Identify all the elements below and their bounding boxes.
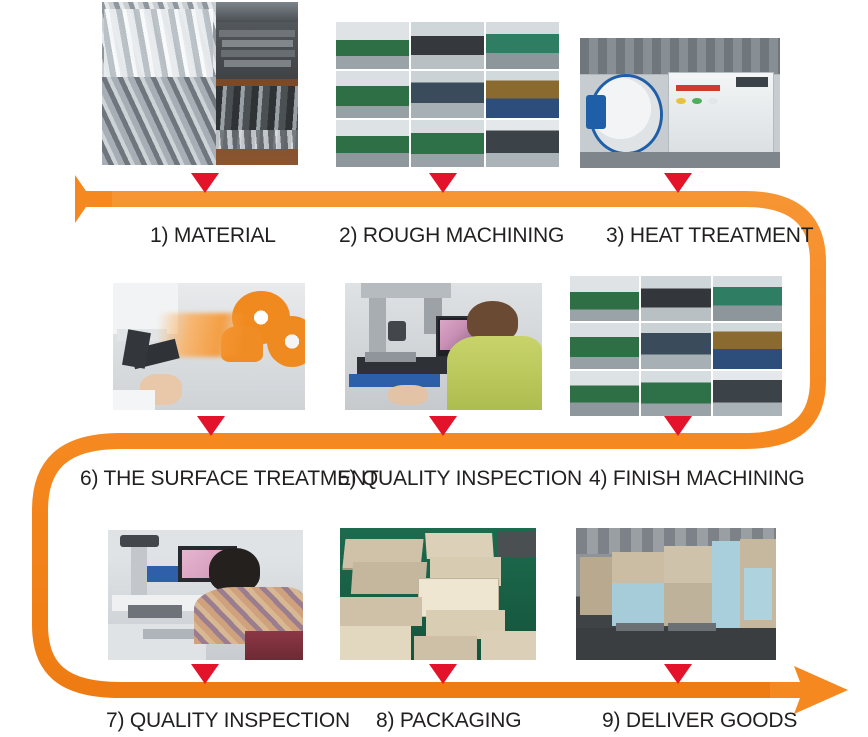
- process-flow-diagram: 1) MATERIAL 2) ROUGH MACHINING 3) HEAT T…: [0, 0, 868, 737]
- red-down-chevron: [663, 663, 693, 685]
- step-label-5: 5) QUALITY INSPECTION: [338, 468, 582, 489]
- flow-start-arrowhead: [75, 175, 112, 223]
- step-label-8: 8) PACKAGING: [376, 710, 521, 731]
- rough-machining-photo: [336, 22, 559, 167]
- flow-end-arrowhead: [770, 666, 848, 714]
- red-down-chevron: [663, 415, 693, 437]
- heat-treatment-photo: [580, 38, 780, 168]
- deliver-goods-photo: [576, 528, 776, 660]
- red-down-chevron: [428, 415, 458, 437]
- step-label-6: 6) THE SURFACE TREATMENT: [80, 468, 379, 489]
- red-down-chevron: [428, 663, 458, 685]
- step-label-2: 2) ROUGH MACHINING: [339, 225, 564, 246]
- material-photo: [102, 2, 298, 165]
- step-label-1: 1) MATERIAL: [150, 225, 276, 246]
- final-inspection-photo: [108, 530, 303, 660]
- red-down-chevron: [190, 663, 220, 685]
- step-label-4: 4) FINISH MACHINING: [589, 468, 805, 489]
- finish-machining-photo: [570, 276, 782, 416]
- red-down-chevron: [428, 172, 458, 194]
- surface-treatment-photo: [113, 283, 305, 410]
- red-down-chevron: [663, 172, 693, 194]
- step-label-9: 9) DELIVER GOODS: [602, 710, 797, 731]
- quality-inspection-photo: [345, 283, 542, 410]
- step-label-3: 3) HEAT TREATMENT: [606, 225, 813, 246]
- packaging-photo: [340, 528, 536, 660]
- red-down-chevron: [190, 172, 220, 194]
- red-down-chevron: [196, 415, 226, 437]
- step-label-7: 7) QUALITY INSPECTION: [106, 710, 350, 731]
